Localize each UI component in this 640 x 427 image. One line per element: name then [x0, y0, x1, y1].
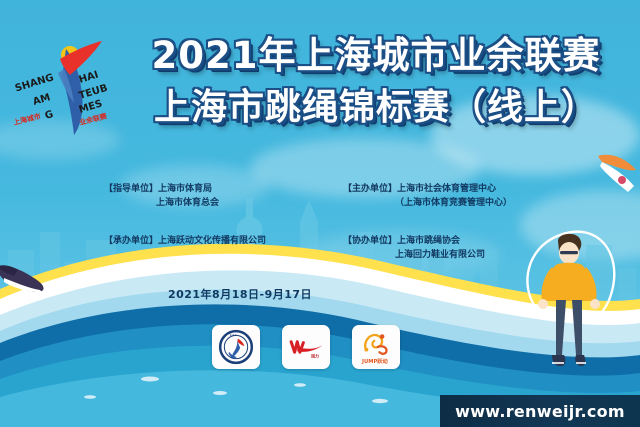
poster-title-line-1: 2021年上海城市业余联赛 [122, 30, 630, 82]
left-shoe [552, 355, 565, 366]
sponsor-tile-warrior: 回力 [282, 325, 330, 369]
sponsor-logo-row: ★★★ 回力 JUMP跃动 [212, 325, 400, 369]
credit-label: 【指导单位】 [104, 184, 158, 194]
credit-row: 【承办单位】上海跃动文化传播有限公司 【协办单位】上海市跳绳协会 上海回力鞋业有… [104, 234, 550, 262]
right-leg [572, 300, 582, 355]
boy-jumping-rope-illustration [500, 205, 640, 395]
credit-value: 上海市社会体育管理中心 [397, 184, 496, 194]
logo-text-g: G [44, 109, 55, 122]
person-illustration [592, 150, 640, 220]
sweater [546, 263, 592, 301]
warrior-caption: 回力 [311, 354, 319, 359]
shanghai-sports-emblem-logo: ★★★ [216, 327, 256, 367]
jump-caption: JUMP跃动 [361, 357, 389, 365]
logo-text-shang: SHANG [14, 72, 55, 94]
credit-label: 【主办单位】 [343, 184, 397, 194]
credit-organizer-unit: 【承办单位】上海跃动文化传播有限公司 [104, 234, 327, 262]
event-date: 2021年8月18日-9月17日 [0, 286, 480, 302]
jump-yuedong-logo: JUMP跃动 [355, 326, 397, 368]
left-hand [538, 299, 548, 309]
credit-label: 【承办单位】 [104, 236, 158, 246]
shanghai-amateur-games-logo: SHANG AM G HAI TEUB MES 上海城市 业余联赛 [8, 25, 128, 145]
logo-text-teub: TEUB [78, 83, 109, 102]
sponsor-tile-shanghai-sports: ★★★ [212, 325, 260, 369]
sponsor-tile-jump: JUMP跃动 [352, 325, 400, 369]
credit-row: 【指导单位】上海市体育局 上海市体育总会 【主办单位】上海市社会体育管理中心 （… [104, 182, 550, 210]
logo-chinese-left: 上海城市 [12, 111, 41, 127]
title-block: 2021年上海城市业余联赛 上海市跳绳锦标赛（线上） [122, 30, 630, 134]
right-hand [590, 299, 600, 309]
credit-value: 上海市跳绳协会 [397, 236, 460, 246]
warrior-huili-logo: 回力 [285, 326, 327, 368]
credit-value-2: 上海市体育总会 [104, 196, 327, 210]
left-leg [556, 300, 566, 355]
watermark-text: www.renweijr.com [455, 402, 625, 421]
credit-value: 上海跃动文化传播有限公司 [158, 236, 266, 246]
right-shoe [575, 355, 585, 366]
credit-value: 上海市体育局 [158, 184, 212, 194]
svg-text:★★★: ★★★ [229, 333, 237, 337]
poster-canvas: SHANG AM G HAI TEUB MES 上海城市 业余联赛 2021年上… [0, 0, 640, 427]
shoe-illustration [0, 258, 56, 298]
logo-text-am: AM [32, 92, 52, 108]
logo-text-hai: HAI [78, 70, 100, 86]
credit-guidance-unit: 【指导单位】上海市体育局 上海市体育总会 [104, 182, 327, 210]
poster-title-line-2: 上海市跳绳锦标赛（线上） [122, 82, 630, 134]
organizer-credits: 【指导单位】上海市体育局 上海市体育总会 【主办单位】上海市社会体育管理中心 （… [104, 182, 550, 262]
watermark-bar: www.renweijr.com [440, 395, 640, 427]
credit-label: 【协办单位】 [343, 236, 397, 246]
eyes [560, 251, 578, 254]
